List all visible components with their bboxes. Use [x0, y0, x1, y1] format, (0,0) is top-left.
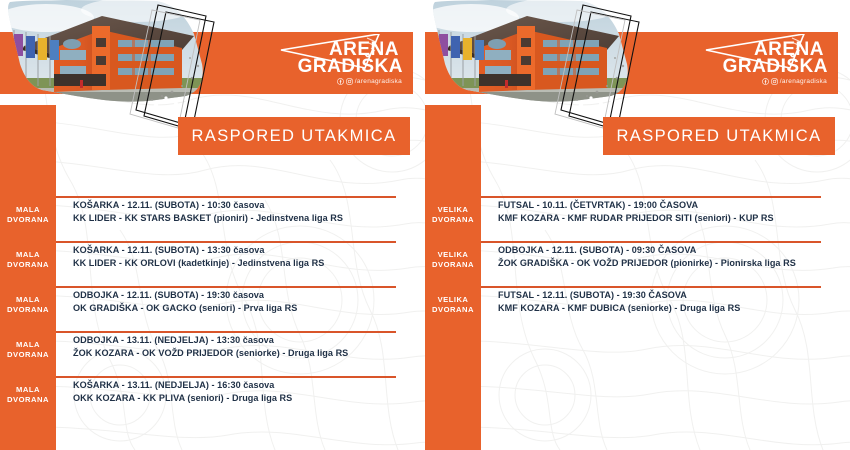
arena-building-photo — [431, 0, 636, 135]
row-separator — [56, 196, 396, 198]
match-teams-league: KMF KOZARA - KMF RUDAR PRIJEDOR SITI (se… — [498, 212, 850, 225]
hall-label: MALA DVORANA — [0, 376, 56, 404]
schedule-poster: ARENA GRADIŠKA /arenagradiska — [0, 0, 850, 450]
social-handle-text: /arenagradiska — [355, 78, 402, 85]
schedule-row[interactable]: MALA DVORANA KOŠARKA - 13.11. (NEDJELJA)… — [0, 376, 425, 421]
schedule-row[interactable]: VELIKA DVORANA ODBOJKA - 12.11. (SUBOTA)… — [425, 241, 850, 286]
hall-label: MALA DVORANA — [0, 286, 56, 314]
hall-label-line1: MALA — [0, 340, 56, 350]
hall-label: VELIKA DVORANA — [425, 241, 481, 269]
match-teams-league: OK GRADIŠKA - OK GACKO (seniori) - Prva … — [73, 302, 425, 315]
match-details: FUTSAL - 10.11. (ČETVRTAK) - 19:00 ČASOV… — [481, 196, 850, 225]
arena-building-photo — [6, 0, 211, 135]
match-sport-datetime: KOŠARKA - 13.11. (NEDJELJA) - 16:30 časo… — [73, 379, 425, 392]
match-teams-league: KMF KOZARA - KMF DUBICA (seniorke) - Dru… — [498, 302, 850, 315]
hall-label-line2: DVORANA — [0, 260, 56, 270]
schedule-list: MALA DVORANA KOŠARKA - 12.11. (SUBOTA) -… — [0, 196, 425, 421]
match-details: KOŠARKA - 12.11. (SUBOTA) - 13:30 časova… — [56, 241, 425, 270]
hall-label-line2: DVORANA — [0, 395, 56, 405]
schedule-row[interactable]: MALA DVORANA ODBOJKA - 12.11. (SUBOTA) -… — [0, 286, 425, 331]
match-teams-league: KK LIDER - KK ORLOVI (kadetkinje) - Jedi… — [73, 257, 425, 270]
row-separator — [56, 331, 396, 333]
match-sport-datetime: FUTSAL - 10.11. (ČETVRTAK) - 19:00 ČASOV… — [498, 199, 850, 212]
page-title: RASPORED UTAKMICA — [191, 127, 396, 146]
hall-label: MALA DVORANA — [0, 196, 56, 224]
page-title: RASPORED UTAKMICA — [616, 127, 821, 146]
hall-label-line2: DVORANA — [0, 305, 56, 315]
match-details: KOŠARKA - 12.11. (SUBOTA) - 10:30 časova… — [56, 196, 425, 225]
hall-label-line1: MALA — [0, 205, 56, 215]
schedule-row[interactable]: VELIKA DVORANA FUTSAL - 12.11. (SUBOTA) … — [425, 286, 850, 331]
row-separator — [56, 241, 396, 243]
hall-label-line1: MALA — [0, 250, 56, 260]
schedule-card-mala-dvorana-card: ARENA GRADIŠKA /arenagradiska — [0, 0, 425, 450]
row-separator — [481, 286, 821, 288]
schedule-card-velika-dvorana-card: ARENA GRADIŠKA /arenagradiska — [425, 0, 850, 450]
match-details: ODBOJKA - 13.11. (NEDJELJA) - 13:30 časo… — [56, 331, 425, 360]
match-details: FUTSAL - 12.11. (SUBOTA) - 19:30 ČASOVA … — [481, 286, 850, 315]
schedule-row[interactable]: MALA DVORANA ODBOJKA - 13.11. (NEDJELJA)… — [0, 331, 425, 376]
match-sport-datetime: KOŠARKA - 12.11. (SUBOTA) - 13:30 časova — [73, 244, 425, 257]
match-details: KOŠARKA - 13.11. (NEDJELJA) - 16:30 časo… — [56, 376, 425, 405]
instagram-icon — [771, 78, 778, 85]
schedule-row[interactable]: MALA DVORANA KOŠARKA - 12.11. (SUBOTA) -… — [0, 241, 425, 286]
match-teams-league: ŽOK KOZARA - OK VOŽD PRIJEDOR (seniorke)… — [73, 347, 425, 360]
hall-label-line1: VELIKA — [425, 250, 481, 260]
match-teams-league: KK LIDER - KK STARS BASKET (pioniri) - J… — [73, 212, 425, 225]
match-teams-league: ŽOK GRADIŠKA - OK VOŽD PRIJEDOR (pionirk… — [498, 257, 850, 270]
schedule-list: VELIKA DVORANA FUTSAL - 10.11. (ČETVRTAK… — [425, 196, 850, 331]
row-separator — [481, 241, 821, 243]
schedule-row[interactable]: MALA DVORANA KOŠARKA - 12.11. (SUBOTA) -… — [0, 196, 425, 241]
match-sport-datetime: FUTSAL - 12.11. (SUBOTA) - 19:30 ČASOVA — [498, 289, 850, 302]
logo-text-gradiska: GRADIŠKA — [298, 57, 403, 76]
hall-label-line1: VELIKA — [425, 205, 481, 215]
hall-label: VELIKA DVORANA — [425, 286, 481, 314]
arena-gradiska-logo: ARENA GRADIŠKA /arenagradiska — [702, 36, 832, 94]
match-teams-league: OKK KOZARA - KK PLIVA (seniori) - Druga … — [73, 392, 425, 405]
hall-label-line1: VELIKA — [425, 295, 481, 305]
hall-label-line2: DVORANA — [425, 305, 481, 315]
title-banner: RASPORED UTAKMICA — [178, 117, 410, 155]
logo-text-gradiska: GRADIŠKA — [723, 57, 828, 76]
title-banner: RASPORED UTAKMICA — [603, 117, 835, 155]
row-separator — [56, 286, 396, 288]
instagram-icon — [346, 78, 353, 85]
hall-label-line2: DVORANA — [0, 215, 56, 225]
hall-label: VELIKA DVORANA — [425, 196, 481, 224]
hall-label-line1: MALA — [0, 385, 56, 395]
match-sport-datetime: ODBOJKA - 12.11. (SUBOTA) - 19:30 časova — [73, 289, 425, 302]
hall-label: MALA DVORANA — [0, 241, 56, 269]
facebook-icon — [337, 78, 344, 85]
social-handle: /arenagradiska — [337, 78, 402, 85]
hall-label-line2: DVORANA — [0, 350, 56, 360]
match-details: ODBOJKA - 12.11. (SUBOTA) - 19:30 časova… — [56, 286, 425, 315]
hall-label-line2: DVORANA — [425, 215, 481, 225]
row-separator — [56, 376, 396, 378]
social-handle-text: /arenagradiska — [780, 78, 827, 85]
schedule-row[interactable]: VELIKA DVORANA FUTSAL - 10.11. (ČETVRTAK… — [425, 196, 850, 241]
match-sport-datetime: KOŠARKA - 12.11. (SUBOTA) - 10:30 časova — [73, 199, 425, 212]
row-separator — [481, 196, 821, 198]
hall-label-line2: DVORANA — [425, 260, 481, 270]
match-sport-datetime: ODBOJKA - 13.11. (NEDJELJA) - 13:30 časo… — [73, 334, 425, 347]
social-handle: /arenagradiska — [762, 78, 827, 85]
hall-label-line1: MALA — [0, 295, 56, 305]
match-sport-datetime: ODBOJKA - 12.11. (SUBOTA) - 09:30 ČASOVA — [498, 244, 850, 257]
hall-label: MALA DVORANA — [0, 331, 56, 359]
match-details: ODBOJKA - 12.11. (SUBOTA) - 09:30 ČASOVA… — [481, 241, 850, 270]
facebook-icon — [762, 78, 769, 85]
arena-gradiska-logo: ARENA GRADIŠKA /arenagradiska — [277, 36, 407, 94]
